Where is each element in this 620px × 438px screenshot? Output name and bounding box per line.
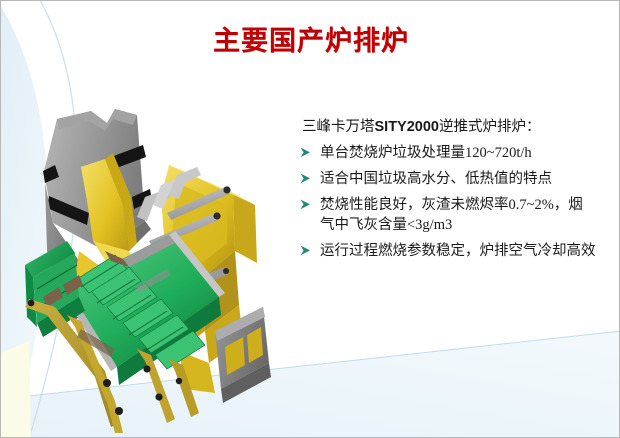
list-item: 单台焚烧炉垃圾处理量120~720t/h [297, 144, 597, 163]
list-item: 焚烧性能良好，灰渣未燃烬率0.7~2%，烟气中飞灰含量<3g/m3 [297, 196, 597, 235]
content-text-block: 三峰卡万塔SITY2000逆推式炉排炉： 单台焚烧炉垃圾处理量120~720t/… [297, 118, 597, 261]
lead-emphasis: SITY2000 [375, 119, 440, 135]
incinerator-illustration [19, 101, 291, 433]
arrow-bullet-icon [299, 244, 312, 258]
lead-prefix: 三峰卡万塔 [302, 119, 375, 135]
list-item-label: 适合中国垃圾高水分、低热值的特点 [320, 171, 552, 187]
arrow-bullet-icon [299, 146, 312, 160]
slide-title: 主要国产炉排炉 [1, 27, 620, 57]
list-item-label: 运行过程燃烧参数稳定，炉排空气冷却高效 [320, 243, 596, 259]
list-item: 适合中国垃圾高水分、低热值的特点 [297, 170, 597, 189]
lead-suffix: 逆推式炉排炉： [439, 119, 541, 135]
lead-paragraph: 三峰卡万塔SITY2000逆推式炉排炉： [302, 118, 597, 137]
slide-canvas: 主要国产炉排炉 [0, 0, 620, 438]
feature-bullet-list: 单台焚烧炉垃圾处理量120~720t/h 适合中国垃圾高水分、低热值的特点 焚烧… [297, 144, 597, 261]
list-item-label: 焚烧性能良好，灰渣未燃烬率0.7~2%，烟气中飞灰含量<3g/m3 [320, 197, 583, 232]
arrow-bullet-icon [299, 172, 312, 186]
arrow-bullet-icon [299, 198, 312, 212]
list-item: 运行过程燃烧参数稳定，炉排空气冷却高效 [297, 242, 597, 261]
list-item-label: 单台焚烧炉垃圾处理量120~720t/h [320, 145, 532, 161]
